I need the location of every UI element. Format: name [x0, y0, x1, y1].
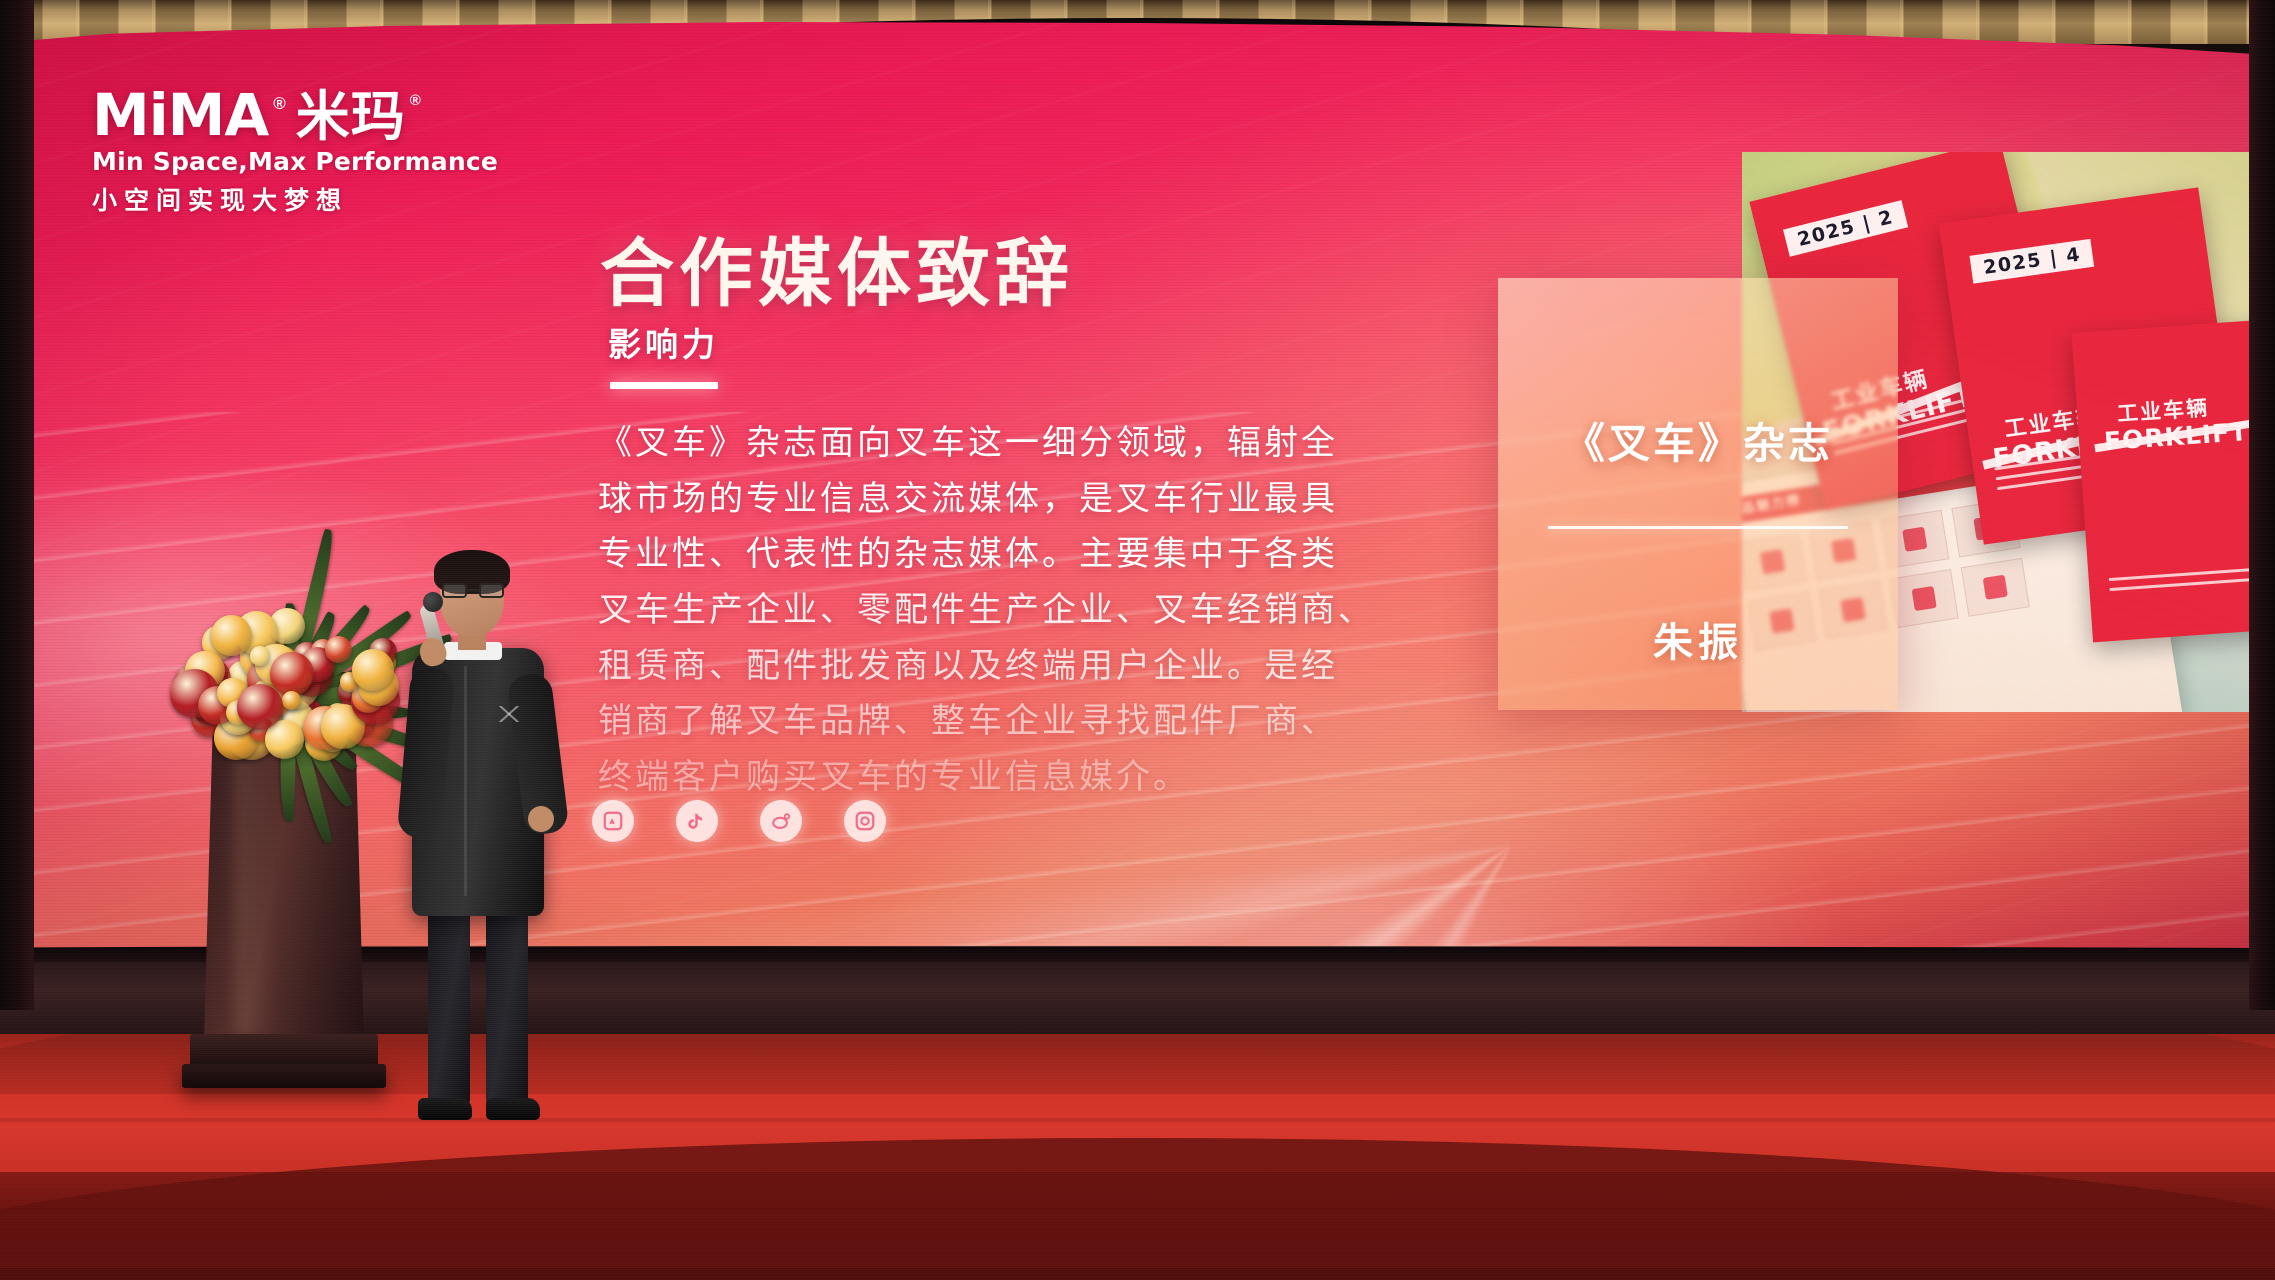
flower-bloom [352, 649, 394, 691]
stage-front-edge [0, 1172, 2275, 1280]
speaker-name: 朱振 [1498, 610, 1898, 668]
presenter-hand-right [528, 806, 554, 832]
body-line: 专业性、代表性的杂志媒体。主要集中于各类 [598, 529, 1428, 581]
logo-registered-mark: ® [273, 94, 286, 114]
presenter-shoe-left [418, 1098, 472, 1120]
body-line: 销商了解叉车品牌、整车企业寻找配件厂商、 [598, 696, 1428, 748]
wall-left [0, 0, 34, 1010]
spread-grid-cell [1890, 569, 1959, 628]
logo-english-tagline: Min Space,Max Performance [92, 147, 492, 176]
eyeglasses-icon [442, 583, 504, 598]
social-icon-row [592, 800, 886, 842]
logo-chinese-wordmark: 米玛 [296, 91, 406, 144]
magazine-issue-date: 2025 | 4 [1970, 238, 2095, 283]
logo-latin-wordmark: MiMA [92, 88, 268, 144]
speaker-organization: 《叉车》杂志 [1498, 410, 1898, 471]
speaker-card-divider [1548, 526, 1848, 529]
flower-bloom [237, 684, 283, 730]
cover-text-lines [2109, 567, 2252, 598]
flower-bloom [325, 636, 352, 663]
lectern-plinth [182, 1064, 386, 1088]
slide-title: 合作媒体致辞 [600, 214, 1074, 321]
wechat-icon [592, 800, 634, 842]
magazine-cover: 工业车辆 FORKLIFT [2071, 316, 2252, 643]
speaker-info-card: 《叉车》杂志 朱振 [1498, 278, 1898, 710]
slide-divider-rule [610, 382, 718, 389]
body-line: 叉车生产企业、零配件生产企业、叉车经销商、 [598, 585, 1428, 637]
video-channel-icon [844, 800, 886, 842]
douyin-icon [676, 800, 718, 842]
logo-registered-mark-2: ® [410, 92, 421, 109]
flower-bloom [250, 646, 270, 666]
weibo-icon [760, 800, 802, 842]
body-line: 《叉车》杂志面向叉车这一细分领域，辐射全 [598, 418, 1428, 470]
body-line: 租赁商、配件批发商以及终端用户企业。是经 [598, 641, 1428, 693]
jacket-brand-logo-icon [496, 706, 522, 722]
spread-grid-cell [1961, 558, 2030, 617]
slide-body-text: 《叉车》杂志面向叉车这一细分领域，辐射全 球市场的专业信息交流媒体，是叉车行业最… [598, 418, 1428, 808]
presenter-legs [428, 908, 528, 1118]
mima-logo: MiMA ® 米玛 ® Min Space,Max Performance 小空… [92, 88, 492, 217]
flower-bloom [211, 615, 252, 656]
body-line: 球市场的专业信息交流媒体，是叉车行业最具 [598, 474, 1428, 526]
presenter-leg-right [486, 908, 528, 1104]
presenter-shoe-right [486, 1098, 540, 1120]
logo-chinese-tagline: 小空间实现大梦想 [92, 181, 492, 217]
presenter-leg-left [428, 908, 470, 1104]
stage-scene: MiMA ® 米玛 ® Min Space,Max Performance 小空… [0, 0, 2275, 1280]
logo-wordmark-row: MiMA ® 米玛 ® [92, 88, 492, 144]
body-line: 终端客户购买叉车的专业信息媒介。 [598, 752, 1428, 804]
magazine-issue-date: 2025 | 2 [1783, 200, 1908, 257]
jacket-zipper [464, 666, 467, 896]
slide-subtitle: 影响力 [608, 318, 719, 366]
wall-right [2249, 0, 2275, 1010]
stage-floor-seam [0, 1118, 2275, 1122]
presenter [392, 556, 562, 1166]
